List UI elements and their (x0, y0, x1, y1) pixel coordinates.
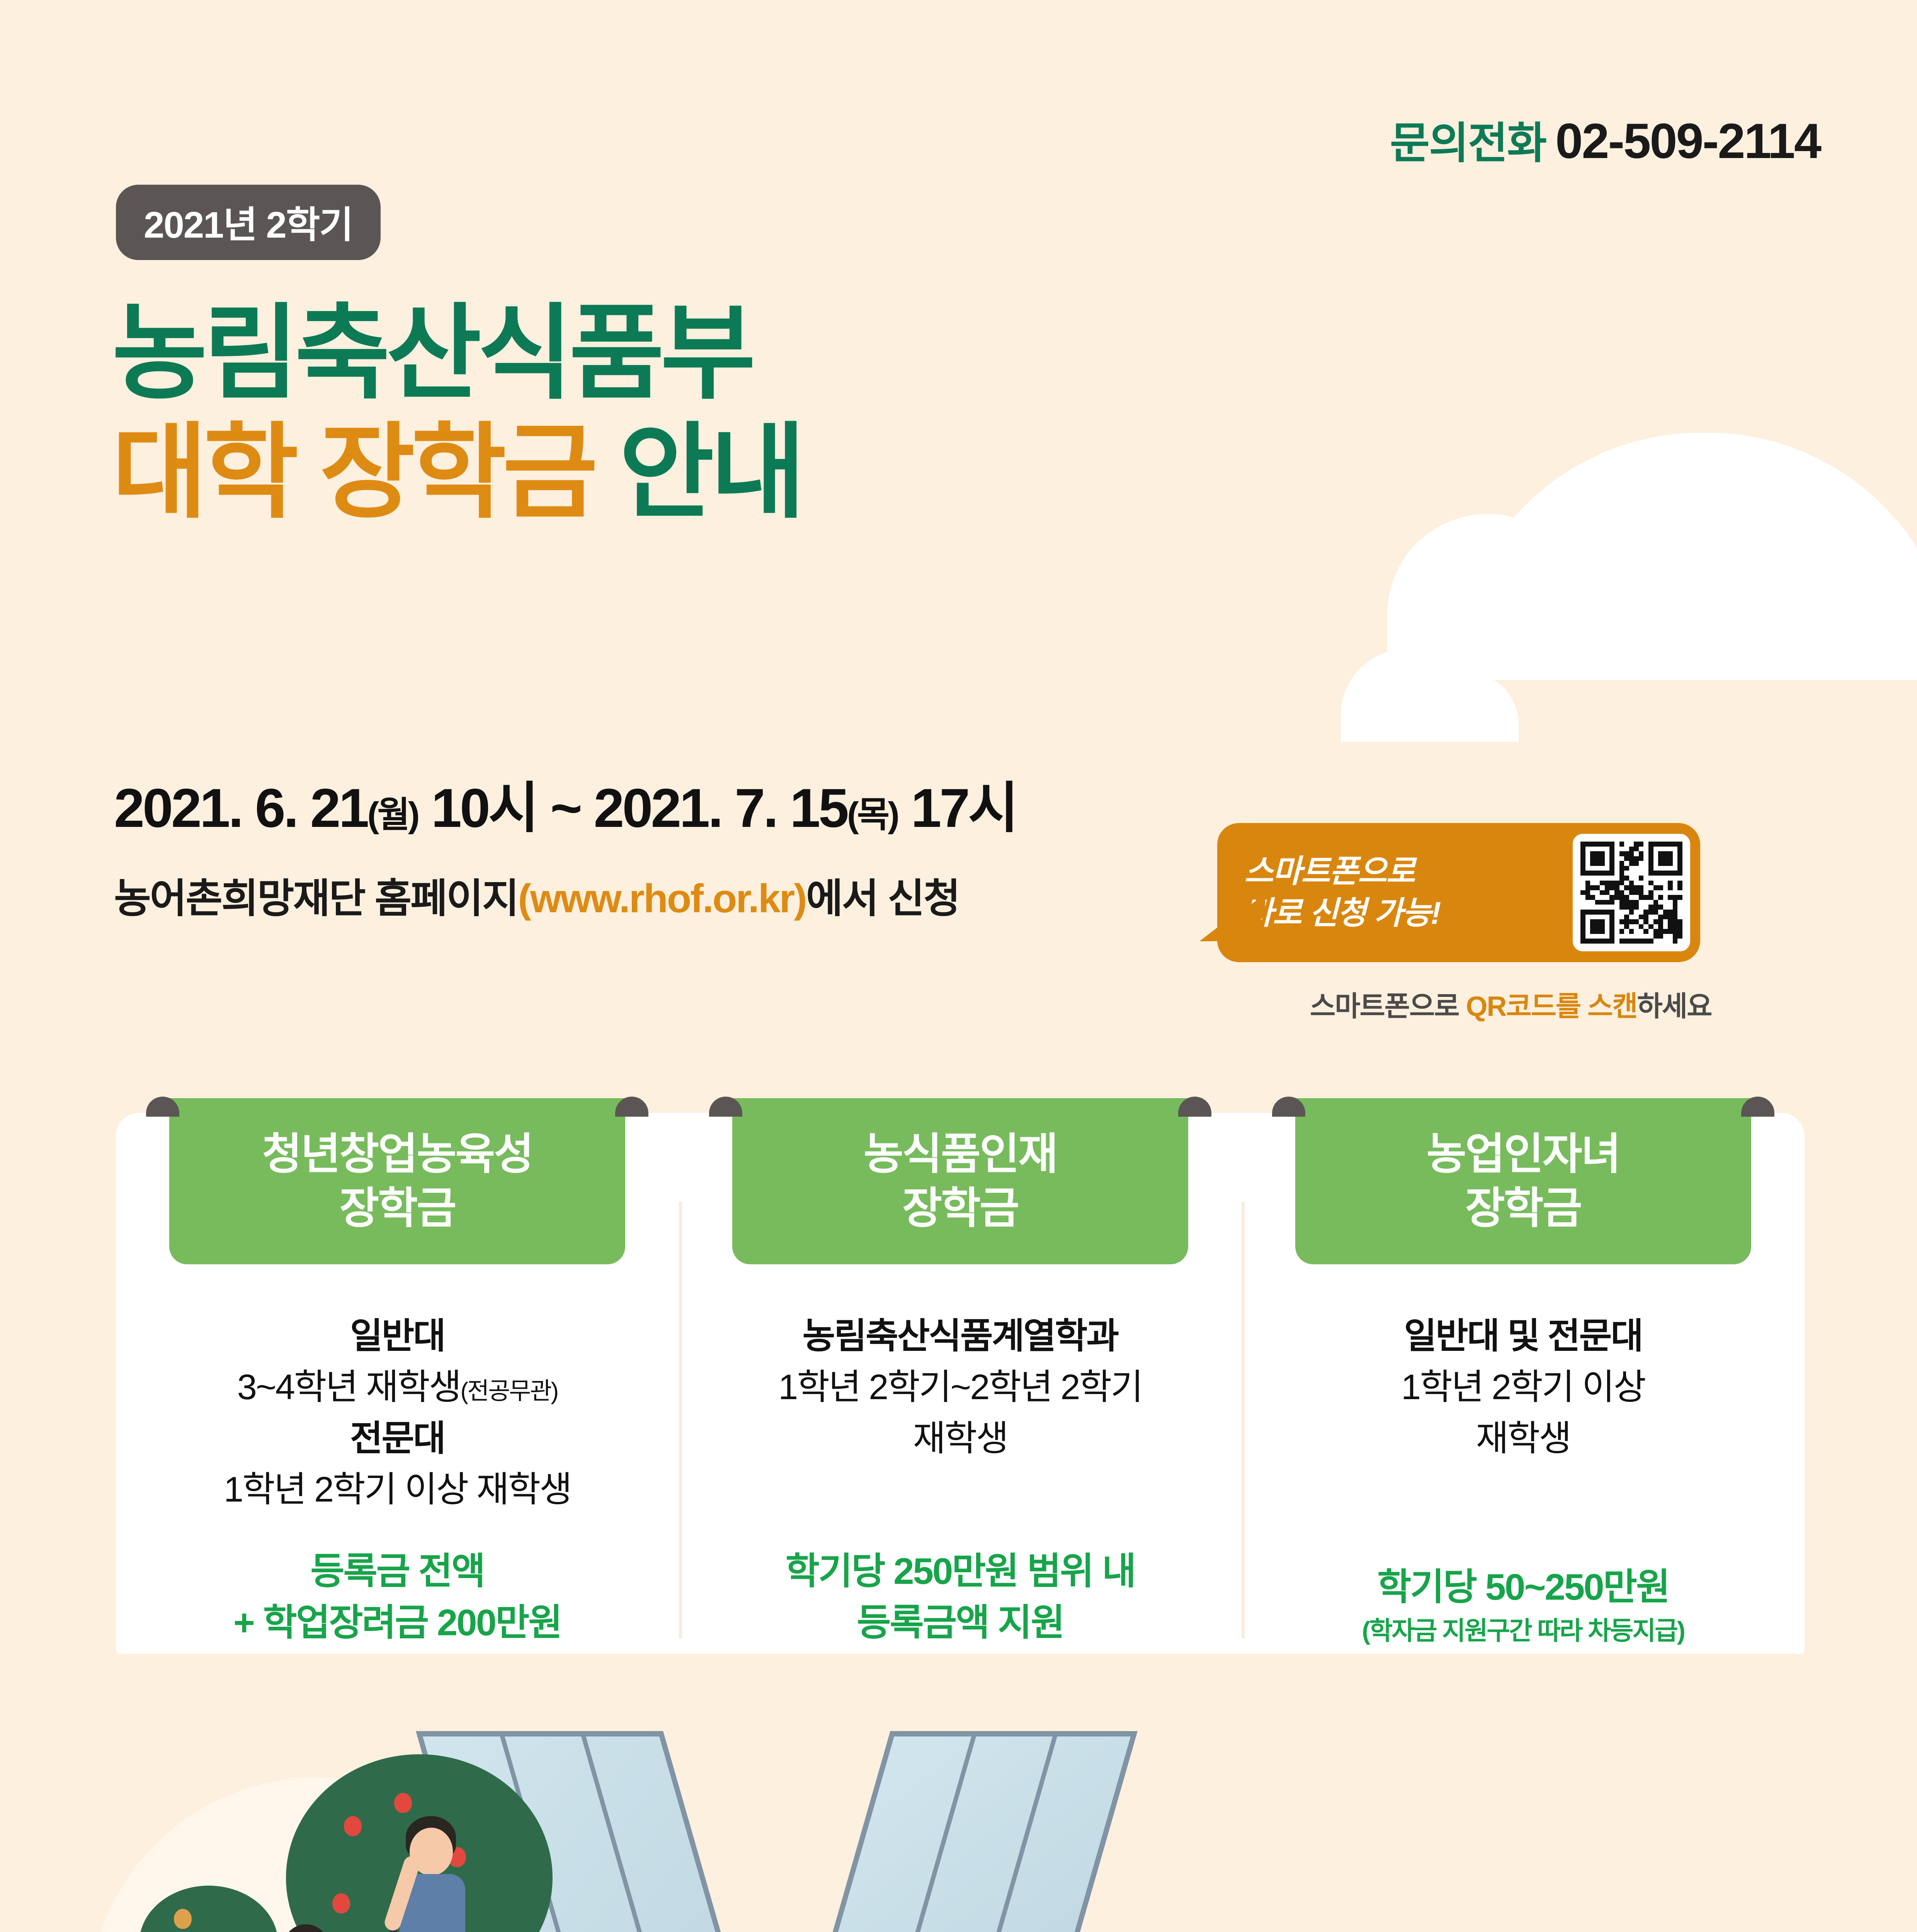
card-body: 농림축산식품계열학과 1학년 2학기~2학년 2학기 재학생 학기당 250만원… (763, 1311, 1158, 1669)
criteria-item: 전문대 (224, 1413, 571, 1464)
title-orange-part: 대학 장학금 (112, 414, 594, 530)
date-end: 2021. 7. 15 (594, 777, 847, 839)
card-title-line-2: 장학금 (902, 1181, 1018, 1235)
amount-block: 학기당 250만원 범위 내 등록금액 지원 (778, 1546, 1142, 1648)
card-title-line-2: 장학금 (1465, 1181, 1581, 1235)
card-body: 일반대 및 전문대 1학년 2학기 이상 재학생 학기당 50~250만원 (학… (1347, 1311, 1700, 1669)
apply-url[interactable]: (www.rhof.or.kr) (518, 876, 806, 921)
criteria-list: 일반대 3~4학년 재학생(전공무관) 전문대 1학년 2학기 이상 재학생 (224, 1311, 571, 1515)
criteria-item: 1학년 2학기 이상 (1362, 1362, 1684, 1413)
criteria-note: (전공무관) (461, 1378, 558, 1405)
poster-root: 문의전화 02-509-2114 2021년 2학기 농림축산식품부 대학 장학… (0, 0, 1917, 1932)
title-line-1: 농림축산식품부 (112, 294, 802, 413)
criteria-item: 일반대 (224, 1311, 571, 1362)
date-start-time: 10시 (431, 777, 537, 839)
criteria-item: 재학생 (778, 1413, 1142, 1464)
card-title-line-2: 장학금 (339, 1181, 455, 1235)
amount-line-1: 등록금 전액 (224, 1546, 571, 1597)
application-period: 2021. 6. 21(월) 10시 ~ 2021. 7. 15(목) 17시 (114, 763, 1017, 843)
apply-prefix: 농어촌희망재단 홈페이지 (114, 876, 518, 921)
farm-illustration (0, 1654, 1917, 1932)
criteria-list: 농림축산식품계열학과 1학년 2학기~2학년 2학기 재학생 (778, 1311, 1142, 1464)
semester-badge: 2021년 2학기 (116, 185, 381, 260)
scholarship-card[interactable]: 농식품인재 장학금 농림축산식품계열학과 1학년 2학기~2학년 2학기 재학생… (679, 1113, 1242, 1669)
criteria-item: 농림축산식품계열학과 (778, 1311, 1142, 1362)
amount-line-1: 학기당 50~250만원 (1362, 1562, 1684, 1613)
card-title-line-1: 농업인자녀 (1427, 1127, 1620, 1181)
qr-speech-bubble: 스마트폰으로 바로 신청 가능! (1217, 823, 1700, 962)
amount-note: (학자금 지원구간 따라 차등지급) (1362, 1613, 1684, 1648)
greenhouse-right-pane (773, 1731, 1138, 1932)
card-header: 청년창업농육성 장학금 (169, 1098, 625, 1264)
apply-suffix: 에서 신청 (806, 876, 959, 921)
qr-caption-suffix: 하세요 (1637, 991, 1712, 1022)
phone-number: 02-509-2114 (1555, 113, 1820, 170)
criteria-list: 일반대 및 전문대 1학년 2학기 이상 재학생 (1362, 1311, 1684, 1464)
scholarship-cards-panel: 청년창업농육성 장학금 일반대 3~4학년 재학생(전공무관) 전문대 1학년 … (116, 1113, 1805, 1669)
qr-bubble-text: 스마트폰으로 바로 신청 가능! (1244, 851, 1441, 934)
date-tilde: ~ (550, 777, 580, 839)
card-header: 농업인자녀 장학금 (1295, 1098, 1751, 1264)
qr-bubble-line-2: 바로 신청 가능! (1244, 893, 1441, 934)
greenhouse-icon (533, 1731, 1020, 1932)
title-line-2: 대학 장학금 안내 (112, 413, 802, 532)
card-title-line-1: 농식품인재 (864, 1127, 1057, 1181)
card-title-line-1: 청년창업농육성 (262, 1127, 532, 1181)
date-end-time: 17시 (911, 777, 1017, 839)
card-body: 일반대 3~4학년 재학생(전공무관) 전문대 1학년 2학기 이상 재학생 등… (208, 1311, 587, 1669)
phone-label: 문의전화 (1390, 108, 1546, 171)
date-start-day: (월) (367, 795, 418, 835)
title-green-part: 안내 (619, 414, 802, 530)
card-header: 농식품인재 장학금 (732, 1098, 1188, 1264)
person-picking-apples (383, 1816, 479, 1932)
qr-caption-highlight: QR코드를 스캔 (1466, 991, 1637, 1022)
amount-line-1: 학기당 250만원 범위 내 (778, 1546, 1142, 1597)
amount-line-2: + 학업장려금 200만원 (224, 1597, 571, 1648)
criteria-text: 3~4학년 재학생 (237, 1367, 461, 1407)
criteria-item: 3~4학년 재학생(전공무관) (224, 1362, 571, 1413)
qr-bubble-line-1: 스마트폰으로 (1244, 851, 1441, 893)
scholarship-card[interactable]: 농업인자녀 장학금 일반대 및 전문대 1학년 2학기 이상 재학생 학기당 5… (1242, 1113, 1805, 1669)
date-end-day: (목) (847, 795, 898, 835)
scholarship-card[interactable]: 청년창업농육성 장학금 일반대 3~4학년 재학생(전공무관) 전문대 1학년 … (116, 1113, 679, 1669)
qr-caption-prefix: 스마트폰으로 (1310, 991, 1466, 1022)
apply-instruction: 농어촌희망재단 홈페이지(www.rhof.or.kr)에서 신청 (114, 866, 959, 924)
criteria-item: 일반대 및 전문대 (1362, 1311, 1684, 1362)
date-start: 2021. 6. 21 (114, 777, 367, 839)
amount-block: 등록금 전액 + 학업장려금 200만원 (224, 1546, 571, 1648)
amount-block: 학기당 50~250만원 (학자금 지원구간 따라 차등지급) (1362, 1562, 1684, 1648)
page-title: 농림축산식품부 대학 장학금 안내 (112, 294, 802, 532)
criteria-item: 1학년 2학기~2학년 2학기 (778, 1362, 1142, 1413)
contact-phone: 문의전화 02-509-2114 (1390, 108, 1820, 171)
qr-caption: 스마트폰으로 QR코드를 스캔하세요 (1310, 983, 1711, 1024)
qr-code-icon[interactable] (1573, 834, 1690, 951)
person-carrying-crate (263, 1924, 352, 1932)
criteria-item: 재학생 (1362, 1413, 1684, 1464)
criteria-item: 1학년 2학기 이상 재학생 (224, 1464, 571, 1515)
amount-line-2: 등록금액 지원 (778, 1597, 1142, 1648)
